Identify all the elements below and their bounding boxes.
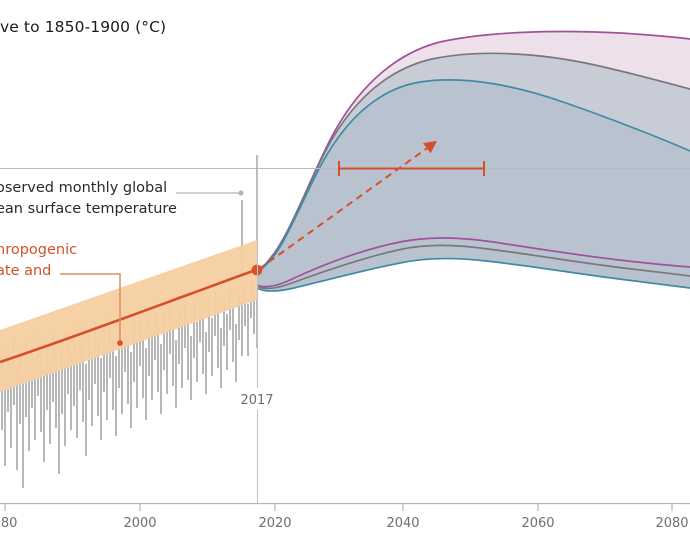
x-tick-label-1980: 980: [0, 516, 17, 531]
observed-temperature-annotation: oserved monthly global ean surface tempe…: [0, 178, 177, 220]
observed-temperature-annotation-line1: oserved monthly global: [0, 178, 177, 199]
anthropogenic-warming-annotation-line2: ate and: [0, 261, 77, 282]
x-tick-label-2040: 2040: [386, 516, 419, 531]
x-tick-label-2020: 2020: [258, 516, 291, 531]
observed-annotation-leader: [176, 190, 244, 195]
x-tick-label-2000: 2000: [123, 516, 156, 531]
observed-temperature-annotation-line2: ean surface temperature: [0, 199, 177, 220]
chart-title: ve to 1850-1900 (°C): [0, 18, 166, 36]
anthropogenic-warming-annotation-line1: hropogenic: [0, 240, 77, 261]
anthropogenic-warming-annotation: hropogenic ate and: [0, 240, 77, 282]
chart-canvas: [0, 0, 690, 550]
x-tick-label-2080: 2080: [655, 516, 688, 531]
climate-projection-chart: ve to 1850-1900 (°C) oserved monthly glo…: [0, 0, 690, 550]
x-axis-ticks: [5, 504, 672, 512]
x-tick-label-2060: 2060: [521, 516, 554, 531]
year-2017-label: 2017: [240, 393, 273, 408]
